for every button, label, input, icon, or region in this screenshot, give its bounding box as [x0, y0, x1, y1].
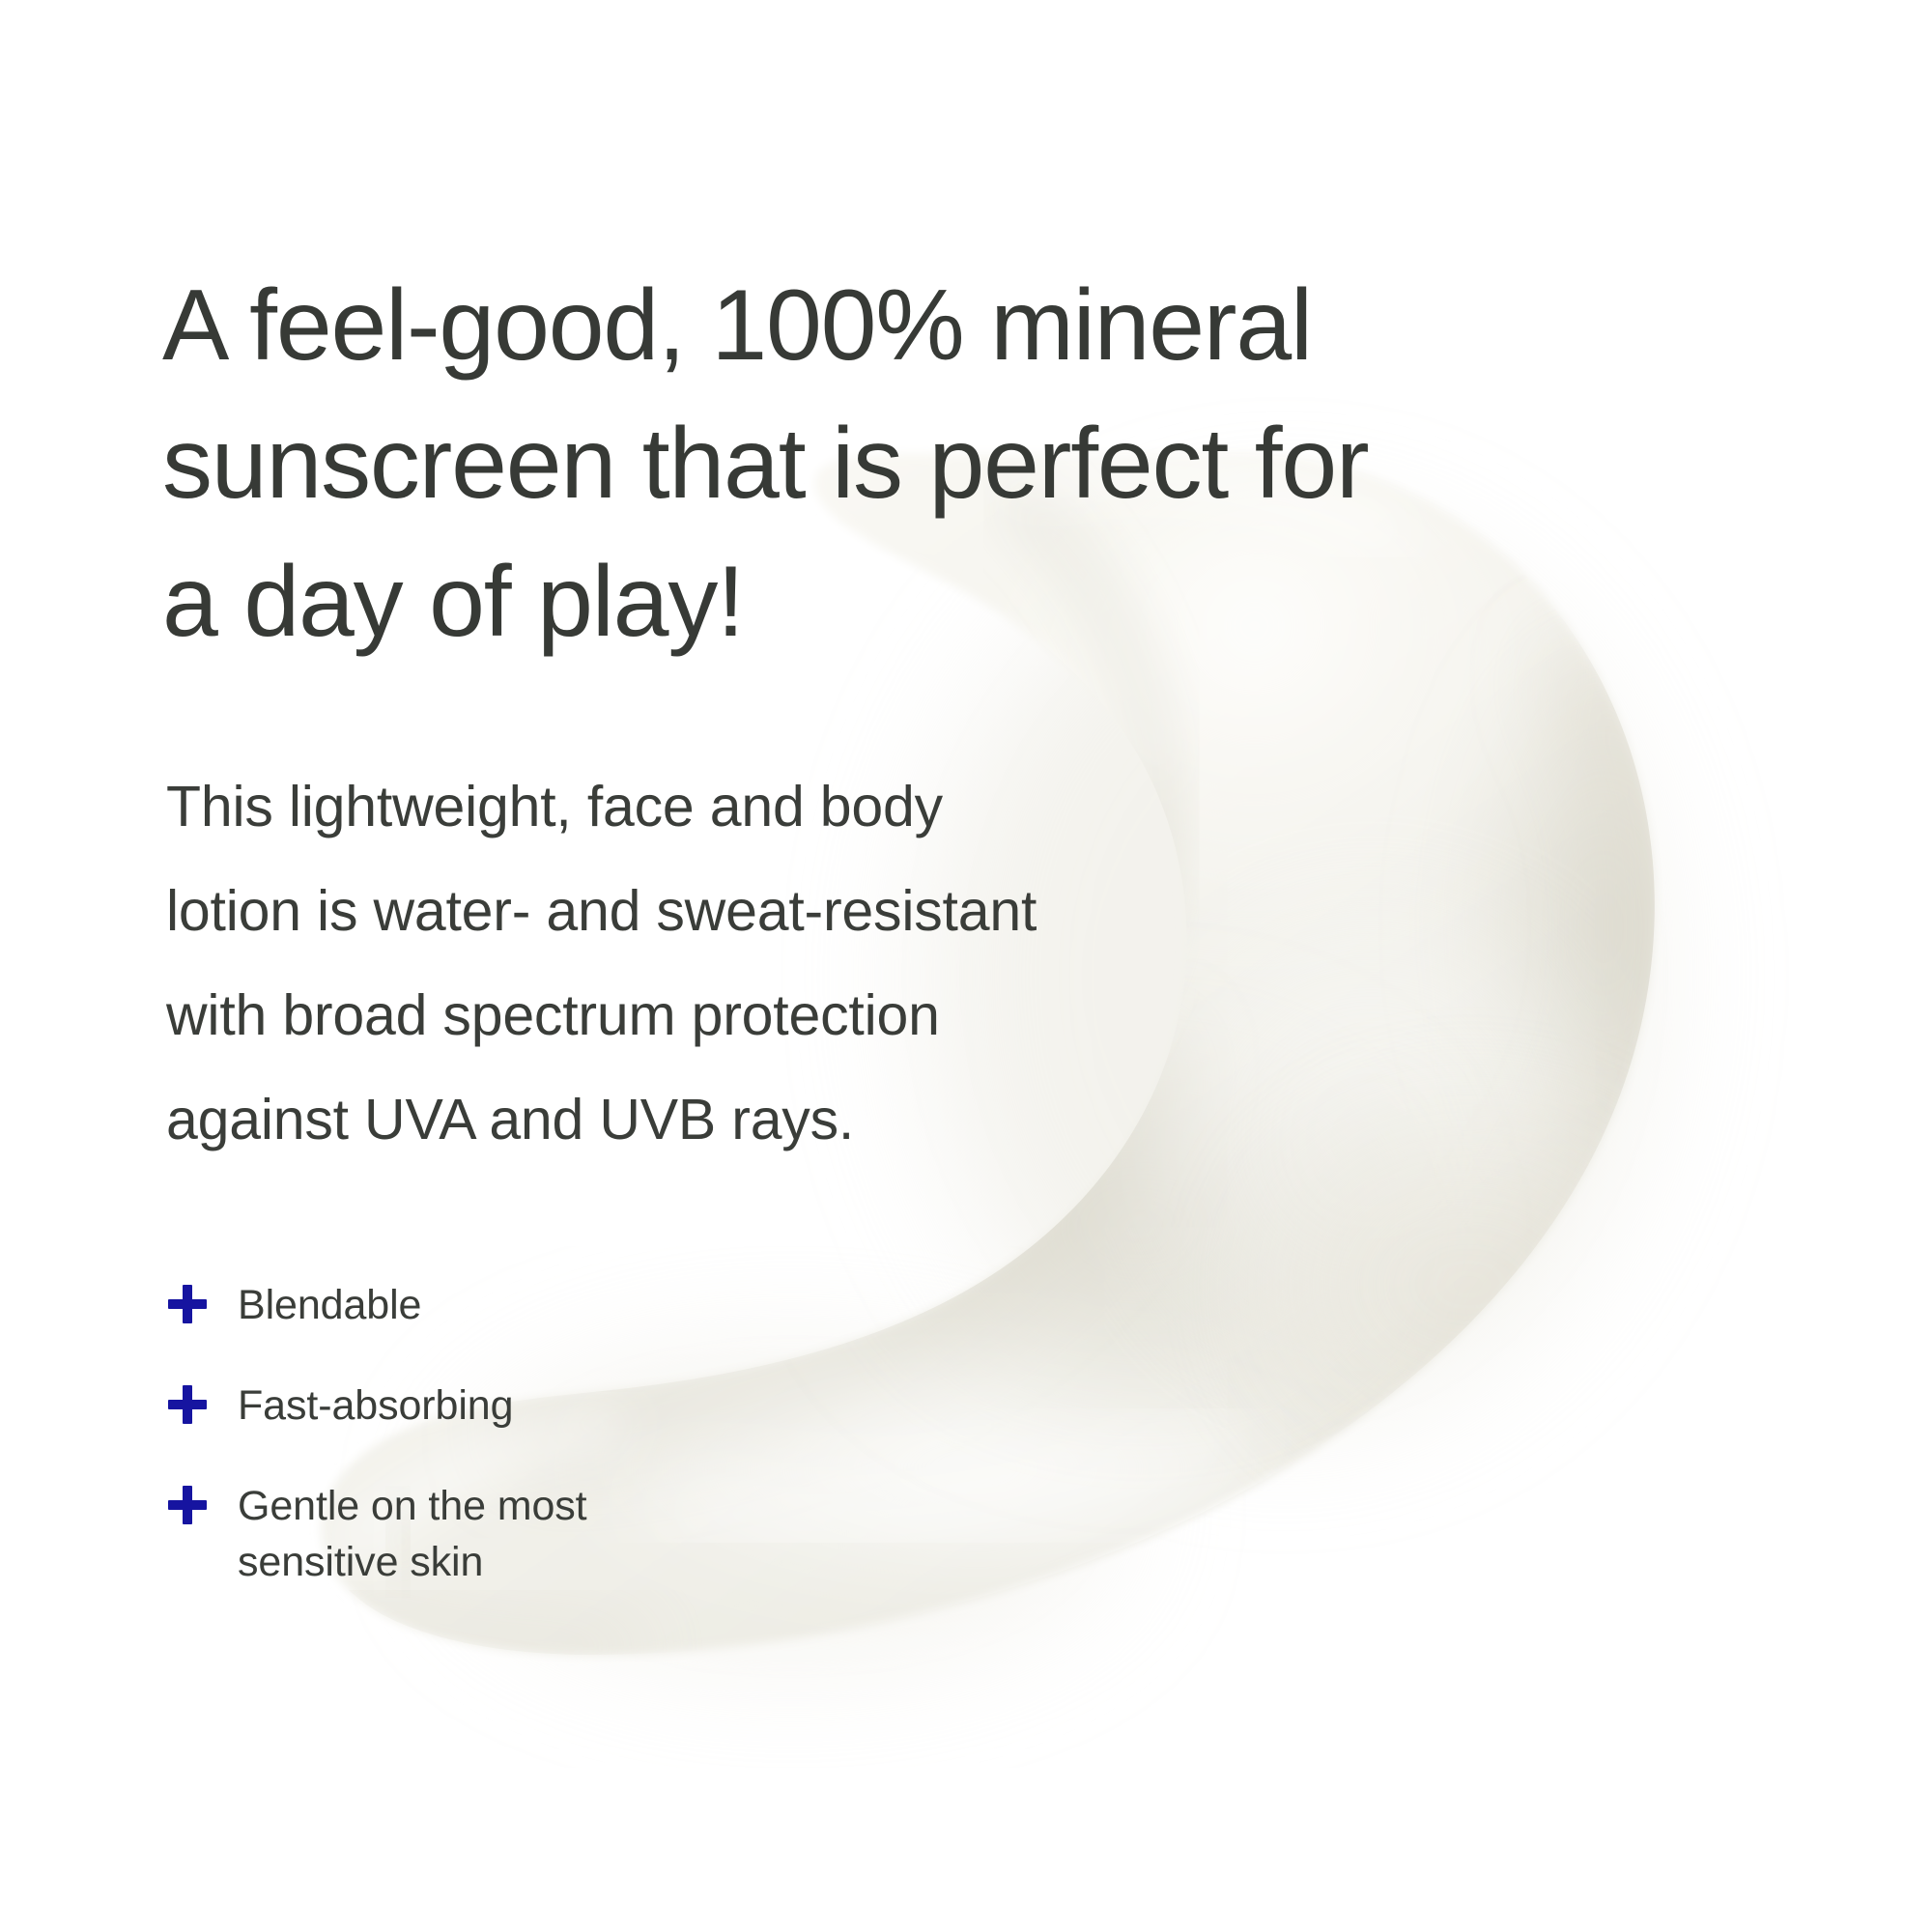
product-feature-panel: A feel-good, 100% mineral sunscreen that… [0, 0, 1932, 1932]
list-item: Blendable [166, 1277, 958, 1333]
content-layer: A feel-good, 100% mineral sunscreen that… [0, 0, 1932, 1932]
plus-icon [166, 1484, 209, 1526]
benefits-list: Blendable Fast-absorbing Gentle on the m… [166, 1277, 958, 1590]
page-title: A feel-good, 100% mineral sunscreen that… [162, 257, 1457, 671]
list-item: Gentle on the most sensitive skin [166, 1478, 958, 1590]
benefit-label: Blendable [238, 1277, 421, 1333]
list-item: Fast-absorbing [166, 1378, 958, 1434]
plus-icon [166, 1283, 209, 1325]
benefit-label: Fast-absorbing [238, 1378, 513, 1434]
benefit-label: Gentle on the most sensitive skin [238, 1478, 587, 1590]
product-description: This lightweight, face and body lotion i… [166, 754, 1325, 1172]
plus-icon [166, 1383, 209, 1426]
